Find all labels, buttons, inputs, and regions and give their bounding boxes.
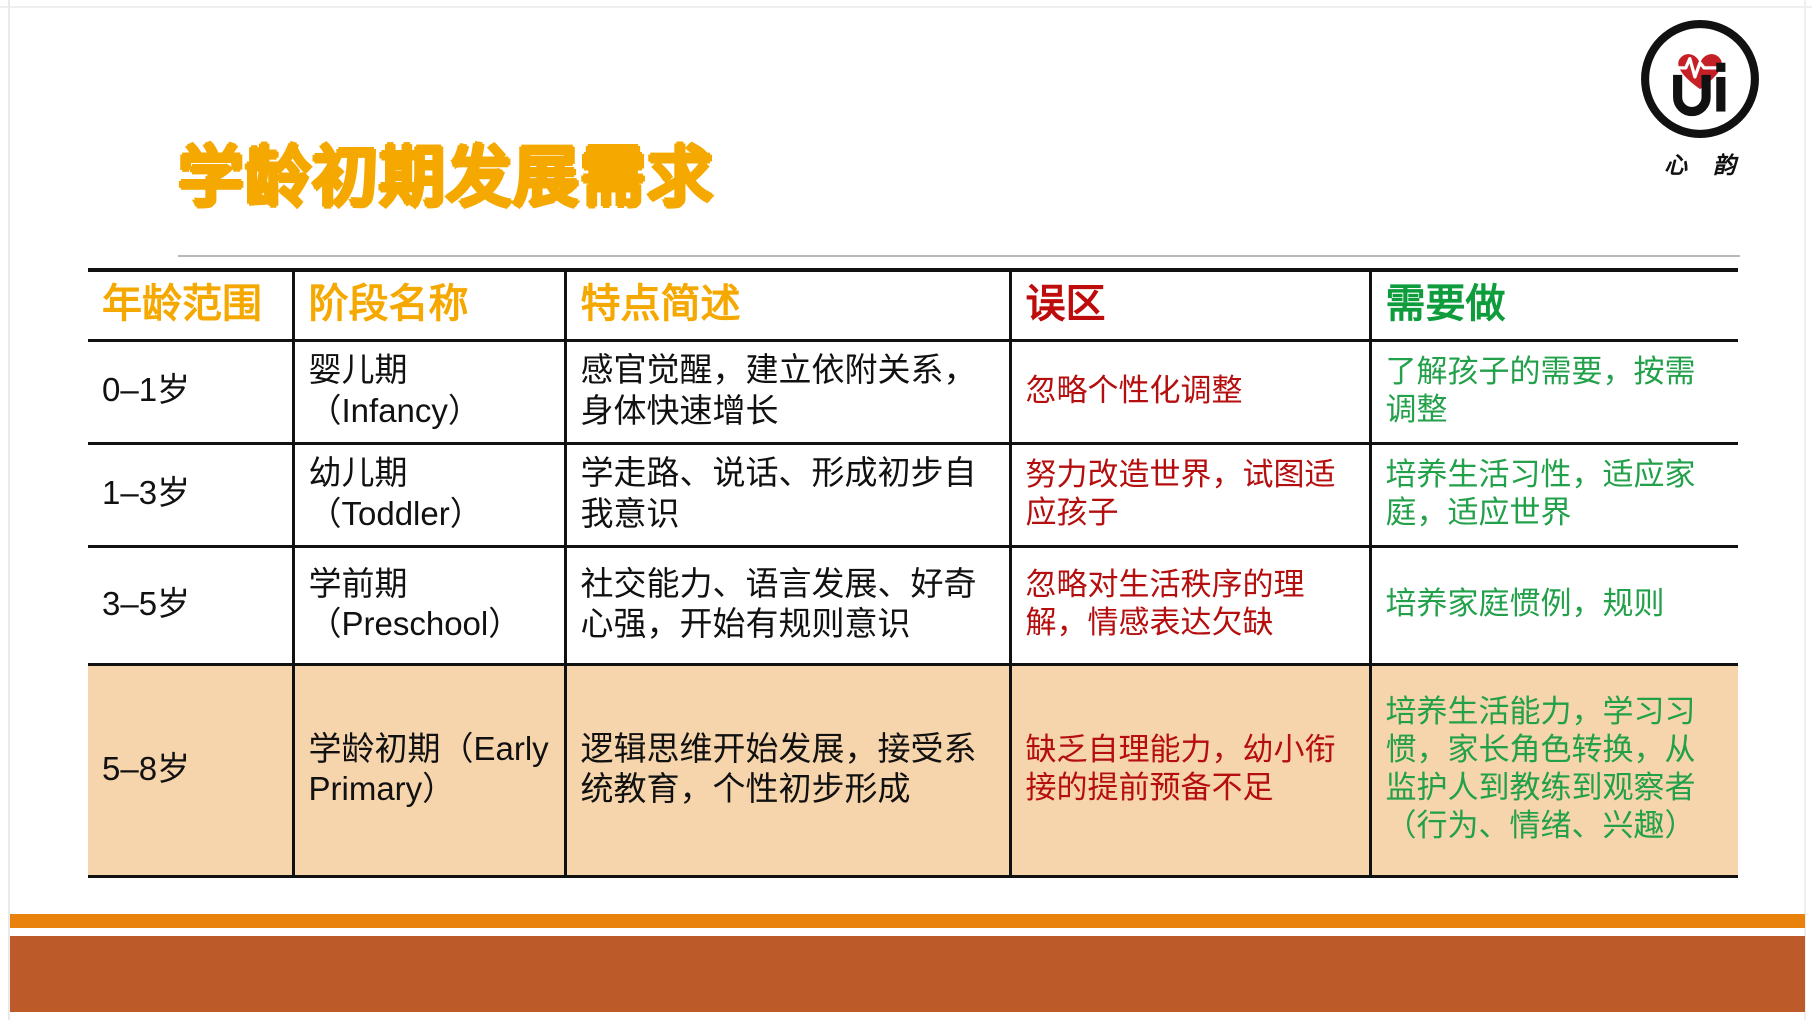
development-needs-table: 年龄范围 阶段名称 特点简述 误区 需要做 0–1岁 婴儿期（Infancy） …: [88, 268, 1738, 878]
cell-trap: 缺乏自理能力，幼小衔接的提前预备不足: [1010, 664, 1370, 876]
table-row-highlighted: 5–8岁 学龄初期（Early Primary） 逻辑思维开始发展，接受系统教育…: [88, 664, 1738, 876]
left-edge-rule: [8, 0, 10, 1020]
heart-pulse-circle-logo-icon: [1639, 18, 1761, 140]
cell-stage: 婴儿期（Infancy）: [293, 340, 565, 443]
footer-bar: [10, 936, 1805, 1012]
logo-caption: 心 韵: [1636, 146, 1764, 180]
cell-age: 1–3岁: [88, 443, 293, 546]
column-header-age: 年龄范围: [88, 270, 293, 340]
cell-feature: 逻辑思维开始发展，接受系统教育，个性初步形成: [565, 664, 1010, 876]
footer-accent-bar: [10, 914, 1805, 928]
cell-feature: 社交能力、语言发展、好奇心强，开始有规则意识: [565, 546, 1010, 664]
column-header-feature: 特点简述: [565, 270, 1010, 340]
cell-feature: 感官觉醒，建立依附关系，身体快速增长: [565, 340, 1010, 443]
cell-feature: 学走路、说话、形成初步自我意识: [565, 443, 1010, 546]
table-row: 0–1岁 婴儿期（Infancy） 感官觉醒，建立依附关系，身体快速增长 忽略个…: [88, 340, 1738, 443]
cell-age: 5–8岁: [88, 664, 293, 876]
brand-logo: 心 韵: [1636, 18, 1764, 190]
table-row: 3–5岁 学前期 （Preschool） 社交能力、语言发展、好奇心强，开始有规…: [88, 546, 1738, 664]
cell-todo: 培养家庭惯例，规则: [1370, 546, 1738, 664]
table-header-row: 年龄范围 阶段名称 特点简述 误区 需要做: [88, 270, 1738, 340]
column-header-trap: 误区: [1010, 270, 1370, 340]
column-header-stage: 阶段名称: [293, 270, 565, 340]
cell-trap: 忽略对生活秩序的理解，情感表达欠缺: [1010, 546, 1370, 664]
cell-stage: 学前期 （Preschool）: [293, 546, 565, 664]
cell-trap: 努力改造世界，试图适应孩子: [1010, 443, 1370, 546]
right-edge-rule: [1804, 0, 1806, 1020]
page-title: 学龄初期发展需求: [178, 144, 714, 210]
cell-trap: 忽略个性化调整: [1010, 340, 1370, 443]
column-header-todo: 需要做: [1370, 270, 1738, 340]
cell-age: 0–1岁: [88, 340, 293, 443]
title-divider: [178, 255, 1740, 257]
cell-stage: 幼儿期（Toddler）: [293, 443, 565, 546]
cell-age: 3–5岁: [88, 546, 293, 664]
cell-stage: 学龄初期（Early Primary）: [293, 664, 565, 876]
cell-todo: 培养生活能力，学习习惯，家长角色转换，从监护人到教练到观察者（行为、情绪、兴趣）: [1370, 664, 1738, 876]
slide-canvas: 心 韵 学龄初期发展需求 年龄范围 阶段名称 特点简述 误区 需要做 0–1岁: [0, 0, 1812, 1020]
cell-todo: 培养生活习性，适应家庭，适应世界: [1370, 443, 1738, 546]
top-edge-rule: [0, 6, 1812, 8]
table-row: 1–3岁 幼儿期（Toddler） 学走路、说话、形成初步自我意识 努力改造世界…: [88, 443, 1738, 546]
cell-todo: 了解孩子的需要，按需调整: [1370, 340, 1738, 443]
